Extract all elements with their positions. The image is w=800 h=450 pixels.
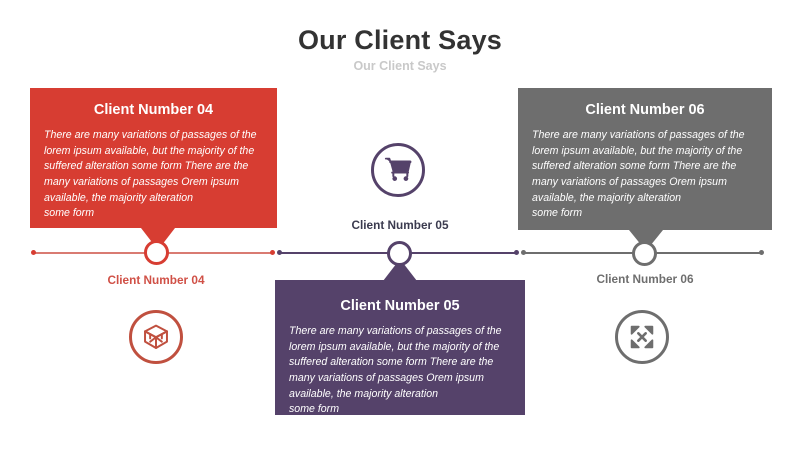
card-title-client-05: Client Number 05 [289,280,511,314]
expand-arrows-icon [629,324,655,350]
card-title-client-06: Client Number 06 [532,88,758,118]
timeline-dot-gray-end [759,250,764,255]
card-client-06[interactable]: Client Number 06 There are many variatio… [518,88,772,230]
icon-badge-client-06[interactable] [615,310,669,364]
card-client-04[interactable]: Client Number 04 There are many variatio… [30,88,277,228]
timeline-dot-red-end [270,250,275,255]
infographic-slide: Our Client Says Our Client Says Client N… [0,0,800,450]
timeline-dot-purple-start [277,250,282,255]
icon-badge-client-04[interactable] [129,310,183,364]
timeline-marker-client-04[interactable] [144,240,169,265]
card-body-client-04: There are many variations of passages of… [44,118,263,222]
timeline-label-client-05: Client Number 05 [320,218,480,232]
page-title: Our Client Says [0,25,800,56]
page-subtitle: Our Client Says [0,59,800,73]
card-title-client-04: Client Number 04 [44,88,263,118]
card-body-client-05: There are many variations of passages of… [289,314,511,418]
icon-badge-client-05[interactable] [371,143,425,197]
timeline-dot-gray-start [521,250,526,255]
timeline-dot-red-start [31,250,36,255]
card-client-05[interactable]: Client Number 05 There are many variatio… [275,280,525,415]
card-body-client-06: There are many variations of passages of… [532,118,758,222]
timeline-marker-client-05[interactable] [387,241,412,266]
cube-icon [142,323,170,351]
timeline-label-client-04: Client Number 04 [76,273,236,287]
timeline-dot-purple-end [514,250,519,255]
shopping-cart-icon [384,156,412,184]
timeline-marker-client-06[interactable] [632,241,657,266]
timeline-label-client-06: Client Number 06 [565,272,725,286]
